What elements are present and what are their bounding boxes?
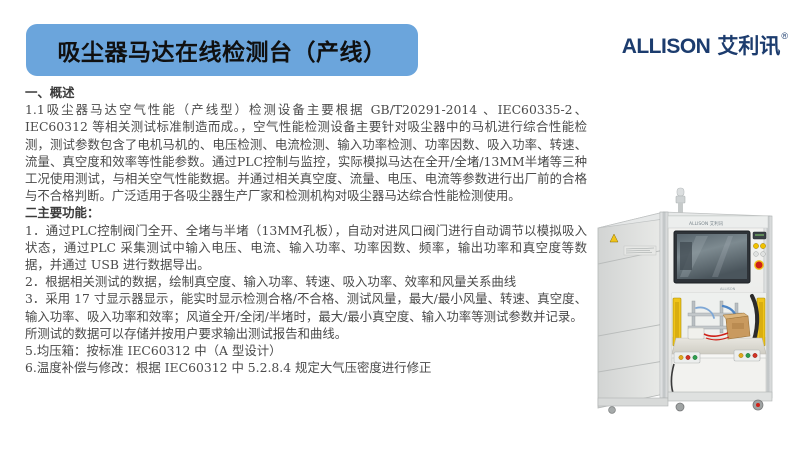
page-title: 吸尘器马达在线检测台（产线） — [58, 33, 387, 67]
slide-title-banner: 吸尘器马达在线检测台（产线） — [26, 24, 418, 76]
feature-item-4: 所测试的数据可以存储并按用户要求输出测试报告和曲线。 — [25, 325, 587, 342]
feature-item-6: 6.温度补偿与修改：根据 IEC60312 中 5.2.8.4 规定大气压密度进… — [25, 359, 587, 376]
overview-paragraph: 1.1吸尘器马达空气性能（产线型）检测设备主要根据 GB/T20291-2014… — [25, 101, 587, 204]
svg-text:ALLISON 艾利讯: ALLISON 艾利讯 — [689, 220, 724, 227]
feature-item-1: 1．通过PLC控制阀门全开、全堵与半堵（13MM孔板），自动对进风口阀门进行自动… — [25, 222, 587, 274]
brand-logo-chinese-text: 艾利讯 — [717, 36, 780, 57]
registered-trademark-icon: ® — [781, 32, 788, 41]
brand-logo-latin-text: ALLISON — [622, 36, 711, 57]
features-heading: 二主要功能： — [25, 204, 587, 221]
test-bench-machine-photo: ALLISON 艾利讯 ALLISON — [592, 186, 798, 424]
feature-item-5: 5.均压箱：按标准 IEC60312 中（A 型设计） — [25, 342, 587, 359]
brand-logo: ALLISON 艾利讯 ® — [622, 36, 788, 57]
svg-text:ALLISON: ALLISON — [720, 287, 736, 291]
feature-item-3: 3．采用 17 寸显示器显示，能实时显示检测合格/不合格、测试风量，最大/最小风… — [25, 290, 587, 324]
overview-heading: 一、概述 — [25, 84, 587, 101]
feature-item-2: 2．根据相关测试的数据，绘制真空度、输入功率、转速、吸入功率、效率和风量关系曲线 — [25, 273, 587, 290]
slide-body-text: 一、概述 1.1吸尘器马达空气性能（产线型）检测设备主要根据 GB/T20291… — [25, 84, 587, 376]
